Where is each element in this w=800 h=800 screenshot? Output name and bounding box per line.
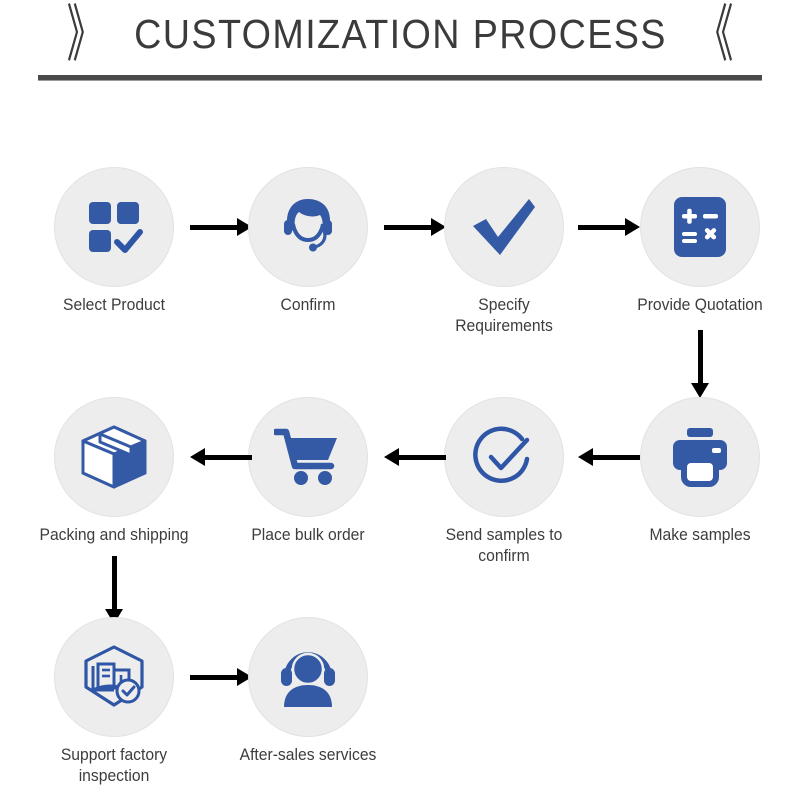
step-circle bbox=[249, 398, 367, 516]
flow-step-specify-requirements[interactable]: Specify Requirements bbox=[424, 168, 584, 337]
step-label: After-sales services bbox=[232, 745, 384, 766]
headset-person-icon bbox=[275, 646, 341, 708]
step-circle bbox=[55, 398, 173, 516]
grid-check-icon bbox=[83, 196, 145, 258]
arrow-step5-to-step6 bbox=[578, 439, 640, 475]
arrow-step8-to-step9 bbox=[96, 556, 132, 624]
flow-step-send-samples-to-confirm[interactable]: Send samples to confirm bbox=[424, 398, 584, 567]
flow-step-support-factory-inspection[interactable]: Support factory inspection bbox=[34, 618, 194, 787]
calculator-icon bbox=[671, 195, 729, 259]
step-label: Send samples to confirm bbox=[428, 525, 580, 567]
circle-check-icon bbox=[470, 423, 538, 491]
flow-step-select-product[interactable]: Select Product bbox=[34, 168, 194, 316]
step-label: Select Product bbox=[38, 295, 190, 316]
shopping-cart-icon bbox=[274, 426, 342, 488]
flow-step-packing-and-shipping[interactable]: Packing and shipping bbox=[34, 398, 194, 546]
step-circle bbox=[445, 168, 563, 286]
headset-agent-icon bbox=[275, 194, 341, 260]
printer-icon bbox=[668, 426, 732, 488]
step-circle bbox=[445, 398, 563, 516]
step-label: Confirm bbox=[232, 295, 384, 316]
step-label: Provide Quotation bbox=[624, 295, 776, 316]
flow-step-make-samples[interactable]: Make samples bbox=[620, 398, 780, 546]
step-label: Place bulk order bbox=[232, 525, 384, 546]
shield-factory-check-icon bbox=[80, 644, 148, 710]
step-label: Specify Requirements bbox=[428, 295, 580, 337]
page-header: 》 CUSTOMIZATION PROCESS 《 bbox=[0, 0, 800, 92]
arrow-step6-to-step7 bbox=[384, 439, 446, 475]
title-divider bbox=[38, 75, 762, 81]
step-circle bbox=[249, 168, 367, 286]
flow-step-confirm[interactable]: Confirm bbox=[228, 168, 388, 316]
flow-step-after-sales-services[interactable]: After-sales services bbox=[228, 618, 388, 766]
arrow-step7-to-step8 bbox=[190, 439, 252, 475]
arrow-step4-to-step5 bbox=[682, 330, 718, 398]
step-circle bbox=[55, 168, 173, 286]
package-box-icon bbox=[79, 424, 149, 490]
step-circle bbox=[641, 398, 759, 516]
step-label: Support factory inspection bbox=[38, 745, 190, 787]
chevron-right-icon: 《 bbox=[697, 3, 734, 65]
step-label: Make samples bbox=[624, 525, 776, 546]
checkmark-icon bbox=[469, 195, 539, 259]
step-label: Packing and shipping bbox=[38, 525, 190, 546]
step-circle bbox=[249, 618, 367, 736]
step-circle bbox=[641, 168, 759, 286]
step-circle bbox=[55, 618, 173, 736]
flow-step-place-bulk-order[interactable]: Place bulk order bbox=[228, 398, 388, 546]
flow-step-provide-quotation[interactable]: Provide Quotation bbox=[620, 168, 780, 316]
page-title: CUSTOMIZATION PROCESS bbox=[134, 11, 667, 58]
chevron-left-icon: 》 bbox=[66, 3, 103, 65]
title-row: 》 CUSTOMIZATION PROCESS 《 bbox=[0, 0, 800, 68]
